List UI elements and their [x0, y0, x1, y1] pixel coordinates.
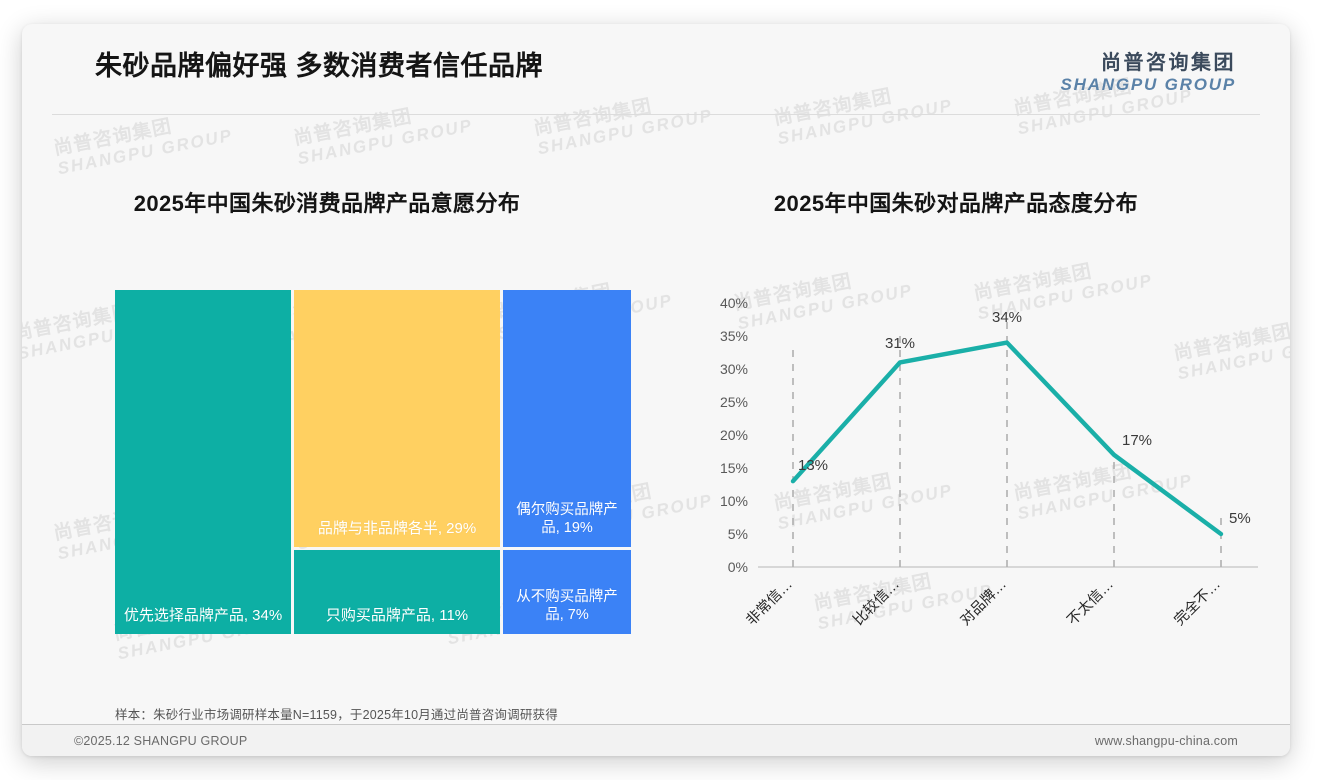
treemap-chart: 优先选择品牌产品, 34% 品牌与非品牌各半, 29% 只购买品牌产品, 11%… [115, 290, 631, 634]
left-chart-panel: 2025年中国朱砂消费品牌产品意愿分布 优先选择品牌产品, 34% 品牌与非品牌… [22, 120, 656, 680]
slide-page: 尚普咨询集团SHANGPU GROUP 尚普咨询集团SHANGPU GROUP … [22, 24, 1290, 756]
footer-copyright: ©2025.12 SHANGPU GROUP [74, 734, 247, 748]
y-tick-label: 10% [720, 493, 748, 509]
data-label: 31% [885, 335, 915, 352]
y-tick-label: 30% [720, 361, 748, 377]
footnote: 样本：朱砂行业市场调研样本量N=1159，于2025年10月通过尚普咨询调研获得 [115, 704, 558, 723]
treemap-column-3: 偶尔购买品牌产品, 19% 从不购买品牌产品, 7% [503, 290, 631, 634]
x-tick-label: 非常信… [743, 576, 796, 629]
logo-text-cn: 尚普咨询集团 [1061, 52, 1236, 74]
treemap-column-1: 优先选择品牌产品, 34% [115, 290, 291, 634]
y-tick-label: 5% [728, 526, 748, 542]
data-label: 34% [992, 309, 1022, 326]
right-chart-panel: 2025年中国朱砂对品牌产品态度分布 40% 35% 30% 25% 20% 1… [656, 120, 1290, 680]
x-axis-labels: 非常信… 比较信… 对品牌… 不太信… 完全不… [743, 575, 1224, 629]
logo-text-en: SHANGPU GROUP [1061, 75, 1236, 94]
treemap-cell[interactable]: 品牌与非品牌各半, 29% [294, 290, 500, 547]
line-chart: 40% 35% 30% 25% 20% 15% 10% 5% 0% [678, 280, 1278, 680]
treemap-cell-label: 优先选择品牌产品, 34% [124, 606, 282, 625]
treemap-cell[interactable]: 偶尔购买品牌产品, 19% [503, 290, 631, 547]
y-tick-label: 25% [720, 394, 748, 410]
treemap-column-2: 品牌与非品牌各半, 29% 只购买品牌产品, 11% [294, 290, 500, 634]
treemap-cell-label: 从不购买品牌产品, 7% [509, 588, 625, 625]
data-label: 17% [1122, 432, 1152, 449]
treemap-cell-label: 只购买品牌产品, 11% [326, 606, 468, 625]
gridlines [793, 318, 1221, 567]
page-header: 朱砂品牌偏好强 多数消费者信任品牌 尚普咨询集团 SHANGPU GROUP [22, 24, 1290, 110]
header-divider [52, 114, 1260, 115]
treemap-cell[interactable]: 从不购买品牌产品, 7% [503, 550, 631, 634]
company-logo: 尚普咨询集团 SHANGPU GROUP [1061, 52, 1236, 94]
page-footer: ©2025.12 SHANGPU GROUP www.shangpu-china… [22, 725, 1290, 756]
x-tick-label: 不太信… [1064, 576, 1117, 629]
x-tick-label: 比较信… [849, 575, 903, 629]
treemap-cell-label: 偶尔购买品牌产品, 19% [509, 501, 625, 538]
treemap-cell-label: 品牌与非品牌各半, 29% [318, 519, 476, 538]
right-chart-title: 2025年中国朱砂对品牌产品态度分布 [656, 186, 1256, 218]
left-chart-title: 2025年中国朱砂消费品牌产品意愿分布 [22, 186, 632, 218]
data-label: 5% [1229, 510, 1251, 527]
x-tick-label: 完全不… [1170, 575, 1224, 629]
page-title: 朱砂品牌偏好强 多数消费者信任品牌 [95, 44, 543, 83]
treemap-cell[interactable]: 只购买品牌产品, 11% [294, 550, 500, 634]
data-labels: 13% 31% 34% 17% 5% [798, 309, 1251, 527]
treemap-cell[interactable]: 优先选择品牌产品, 34% [115, 290, 291, 634]
y-tick-label: 35% [720, 328, 748, 344]
y-tick-label: 15% [720, 460, 748, 476]
y-tick-label: 0% [728, 559, 748, 575]
y-tick-label: 20% [720, 427, 748, 443]
data-label: 13% [798, 457, 828, 474]
footer-website[interactable]: www.shangpu-china.com [1095, 734, 1238, 748]
x-tick-label: 对品牌… [957, 576, 1010, 629]
y-axis-labels: 40% 35% 30% 25% 20% 15% 10% 5% 0% [720, 295, 748, 575]
y-tick-label: 40% [720, 295, 748, 311]
